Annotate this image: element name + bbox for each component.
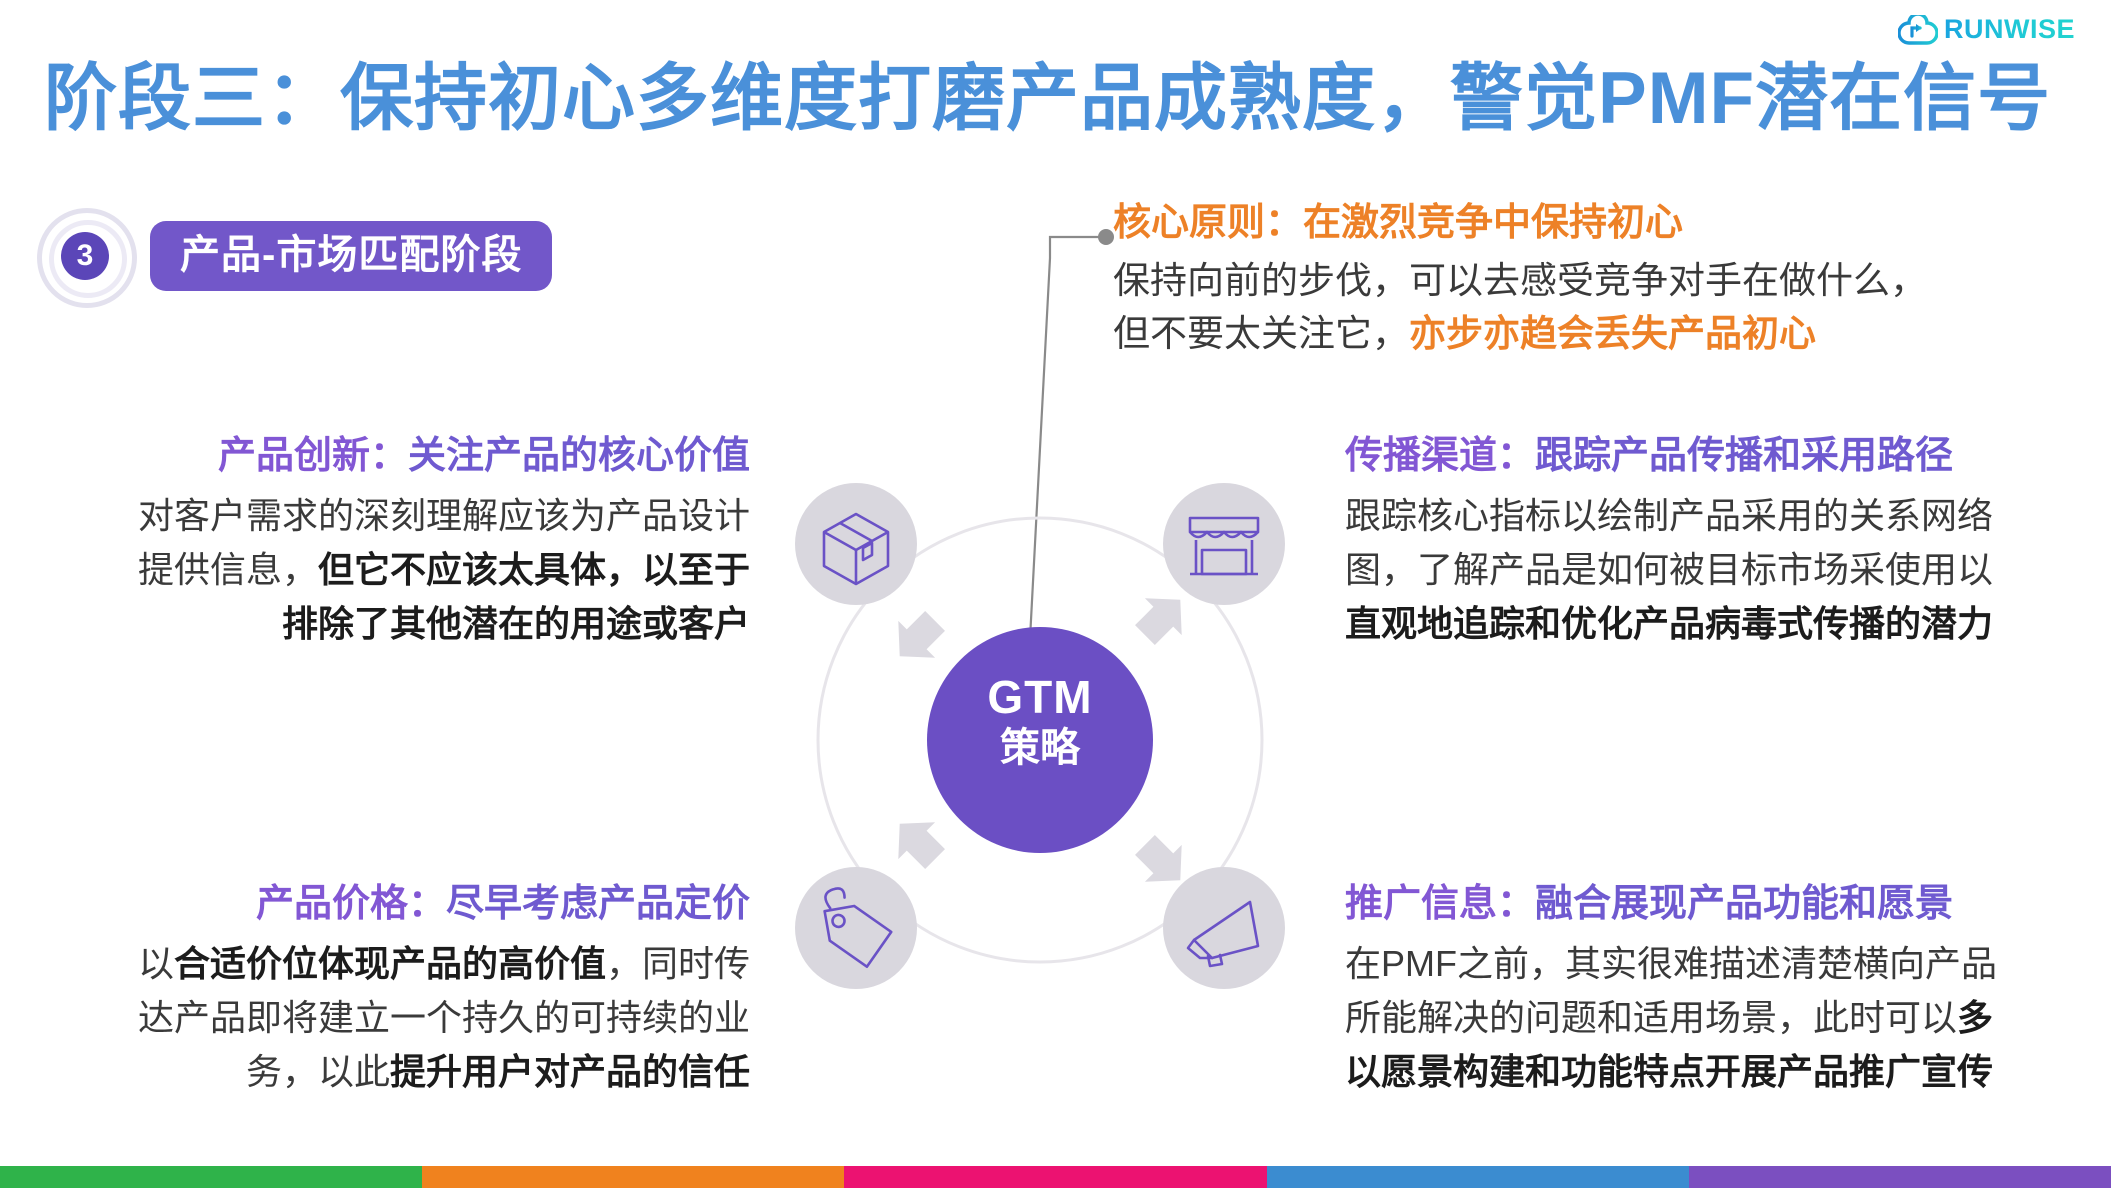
slide-root: RUNWISE 阶段三：保持初心多维度打磨产品成熟度，警觉PMF潜在信号 3 产… [0,0,2111,1188]
line-plain: 在PMF之前，其实很难描述清楚横向产品 [1345,943,1997,984]
line-bold: 排除了其他潜在的用途或客户 [282,603,750,644]
block-product-price: 产品价格：尽早考虑产品定价 以合适价位体现产品的高价值，同时传 达产品即将建立一… [30,880,750,1099]
paragraph-line: 以合适价位体现产品的高价值，同时传 [30,937,750,991]
page-title: 阶段三：保持初心多维度打磨产品成熟度，警觉PMF潜在信号 [44,62,2024,135]
paragraph-line: 对客户需求的深刻理解应该为产品设计 [30,489,750,543]
heading-value: 跟踪产品传播和采用路径 [1535,435,1953,477]
cloud-arrow-icon [1898,15,1938,45]
block-distribution-channel: 传播渠道：跟踪产品传播和采用路径 跟踪核心指标以绘制产品采用的关系网络 图，了解… [1345,432,2105,651]
line-bold: 但它不应该太具体，以至于 [318,549,750,590]
paragraph-line: 务，以此提升用户对产品的信任 [30,1045,750,1099]
bottom-color-bar [0,1166,2111,1188]
line-bold: 提升用户对产品的信任 [390,1051,750,1092]
stage-badge: 3 产品-市场匹配阶段 [34,205,552,307]
line-bold: 合适价位体现产品的高价值 [174,943,606,984]
bar-segment-purple [1689,1166,2111,1188]
callout-body: 保持向前的步伐，可以去感受竞争对手在做什么， 但不要太关注它，亦步亦趋会丢失产品… [1113,254,1923,361]
line-plain: 提供信息， [138,549,318,590]
line-plain: 达产品即将建立一个持久的可持续的业 [138,997,750,1038]
line-plain: 图，了解产品是如何被目标市场采使用以 [1345,549,1993,590]
paragraph-line: 跟踪核心指标以绘制产品采用的关系网络 [1345,489,2105,543]
paragraph-line: 以愿景构建和功能特点开展产品推广宣传 [1345,1045,2105,1099]
heading-key: 推广信息： [1345,883,1535,925]
gtm-center-circle[interactable] [927,627,1153,853]
node-circle-price-tag[interactable] [795,867,917,989]
block-heading: 推广信息：融合展现产品功能和愿景 [1345,880,2105,929]
paragraph-line: 提供信息，但它不应该太具体，以至于 [30,543,750,597]
stage-number: 3 [61,232,109,280]
heading-value: 融合展现产品功能和愿景 [1535,883,1953,925]
block-product-innovation: 产品创新：关注产品的核心价值 对客户需求的深刻理解应该为产品设计 提供信息，但它… [30,432,750,651]
callout-line-1: 保持向前的步伐，可以去感受竞争对手在做什么， [1113,254,1923,308]
line-plain: 以 [138,943,174,984]
heading-key: 产品创新： [218,435,408,477]
callout-heading: 核心原则：在激烈竞争中保持初心 [1113,200,1923,248]
heading-key: 产品价格： [256,883,446,925]
stage-number-circle: 3 [34,205,136,307]
block-paragraph: 以合适价位体现产品的高价值，同时传 达产品即将建立一个持久的可持续的业 务，以此… [30,937,750,1099]
callout-line-2-emphasis: 亦步亦趋会丢失产品初心 [1409,313,1816,354]
callout-line-2-plain: 但不要太关注它， [1113,313,1409,354]
runwise-logo: RUNWISE [1898,14,2075,45]
paragraph-line: 达产品即将建立一个持久的可持续的业 [30,991,750,1045]
bar-segment-pink [844,1166,1266,1188]
logo-text: RUNWISE [1944,14,2075,45]
heading-key: 传播渠道： [1345,435,1535,477]
paragraph-line: 在PMF之前，其实很难描述清楚横向产品 [1345,937,2105,991]
line-tail: ，同时传 [606,943,750,984]
line-bold: 多 [1957,997,1993,1038]
bar-segment-blue [1267,1166,1689,1188]
node-circle-storefront[interactable] [1163,483,1285,605]
line-plain: 所能解决的问题和适用场景，此时可以 [1345,997,1957,1038]
block-heading: 产品创新：关注产品的核心价值 [30,432,750,481]
line-bold: 直观地追踪和优化产品病毒式传播的潜力 [1345,603,1993,644]
block-heading: 产品价格：尽早考虑产品定价 [30,880,750,929]
block-paragraph: 在PMF之前，其实很难描述清楚横向产品 所能解决的问题和适用场景，此时可以多 以… [1345,937,2105,1099]
callout-heading-key: 核心原则： [1113,202,1303,244]
heading-value: 尽早考虑产品定价 [446,883,750,925]
node-circle-megaphone[interactable] [1163,867,1285,989]
block-heading: 传播渠道：跟踪产品传播和采用路径 [1345,432,2105,481]
line-plain: 跟踪核心指标以绘制产品采用的关系网络 [1345,495,1993,536]
paragraph-line: 所能解决的问题和适用场景，此时可以多 [1345,991,2105,1045]
node-circle-package[interactable] [795,483,917,605]
heading-value: 关注产品的核心价值 [408,435,750,477]
line-plain: 对客户需求的深刻理解应该为产品设计 [138,495,750,536]
callout-heading-value: 在激烈竞争中保持初心 [1303,202,1683,244]
paragraph-line: 图，了解产品是如何被目标市场采使用以 [1345,543,2105,597]
gtm-strategy-diagram: GTM 策略 [760,460,1320,1020]
stage-label-pill: 产品-市场匹配阶段 [150,221,552,291]
callout-line-2: 但不要太关注它，亦步亦趋会丢失产品初心 [1113,307,1923,361]
line-plain: 务，以此 [246,1051,390,1092]
bar-segment-green [0,1166,422,1188]
core-principle-callout: 核心原则：在激烈竞争中保持初心 保持向前的步伐，可以去感受竞争对手在做什么， 但… [1113,200,1923,361]
block-promotion-message: 推广信息：融合展现产品功能和愿景 在PMF之前，其实很难描述清楚横向产品 所能解… [1345,880,2105,1099]
line-bold: 以愿景构建和功能特点开展产品推广宣传 [1345,1051,1993,1092]
paragraph-line: 直观地追踪和优化产品病毒式传播的潜力 [1345,597,2105,651]
bar-segment-orange [422,1166,844,1188]
paragraph-line: 排除了其他潜在的用途或客户 [30,597,750,651]
block-paragraph: 跟踪核心指标以绘制产品采用的关系网络 图，了解产品是如何被目标市场采使用以 直观… [1345,489,2105,651]
block-paragraph: 对客户需求的深刻理解应该为产品设计 提供信息，但它不应该太具体，以至于 排除了其… [30,489,750,651]
gtm-diagram-svg [760,460,1320,1020]
